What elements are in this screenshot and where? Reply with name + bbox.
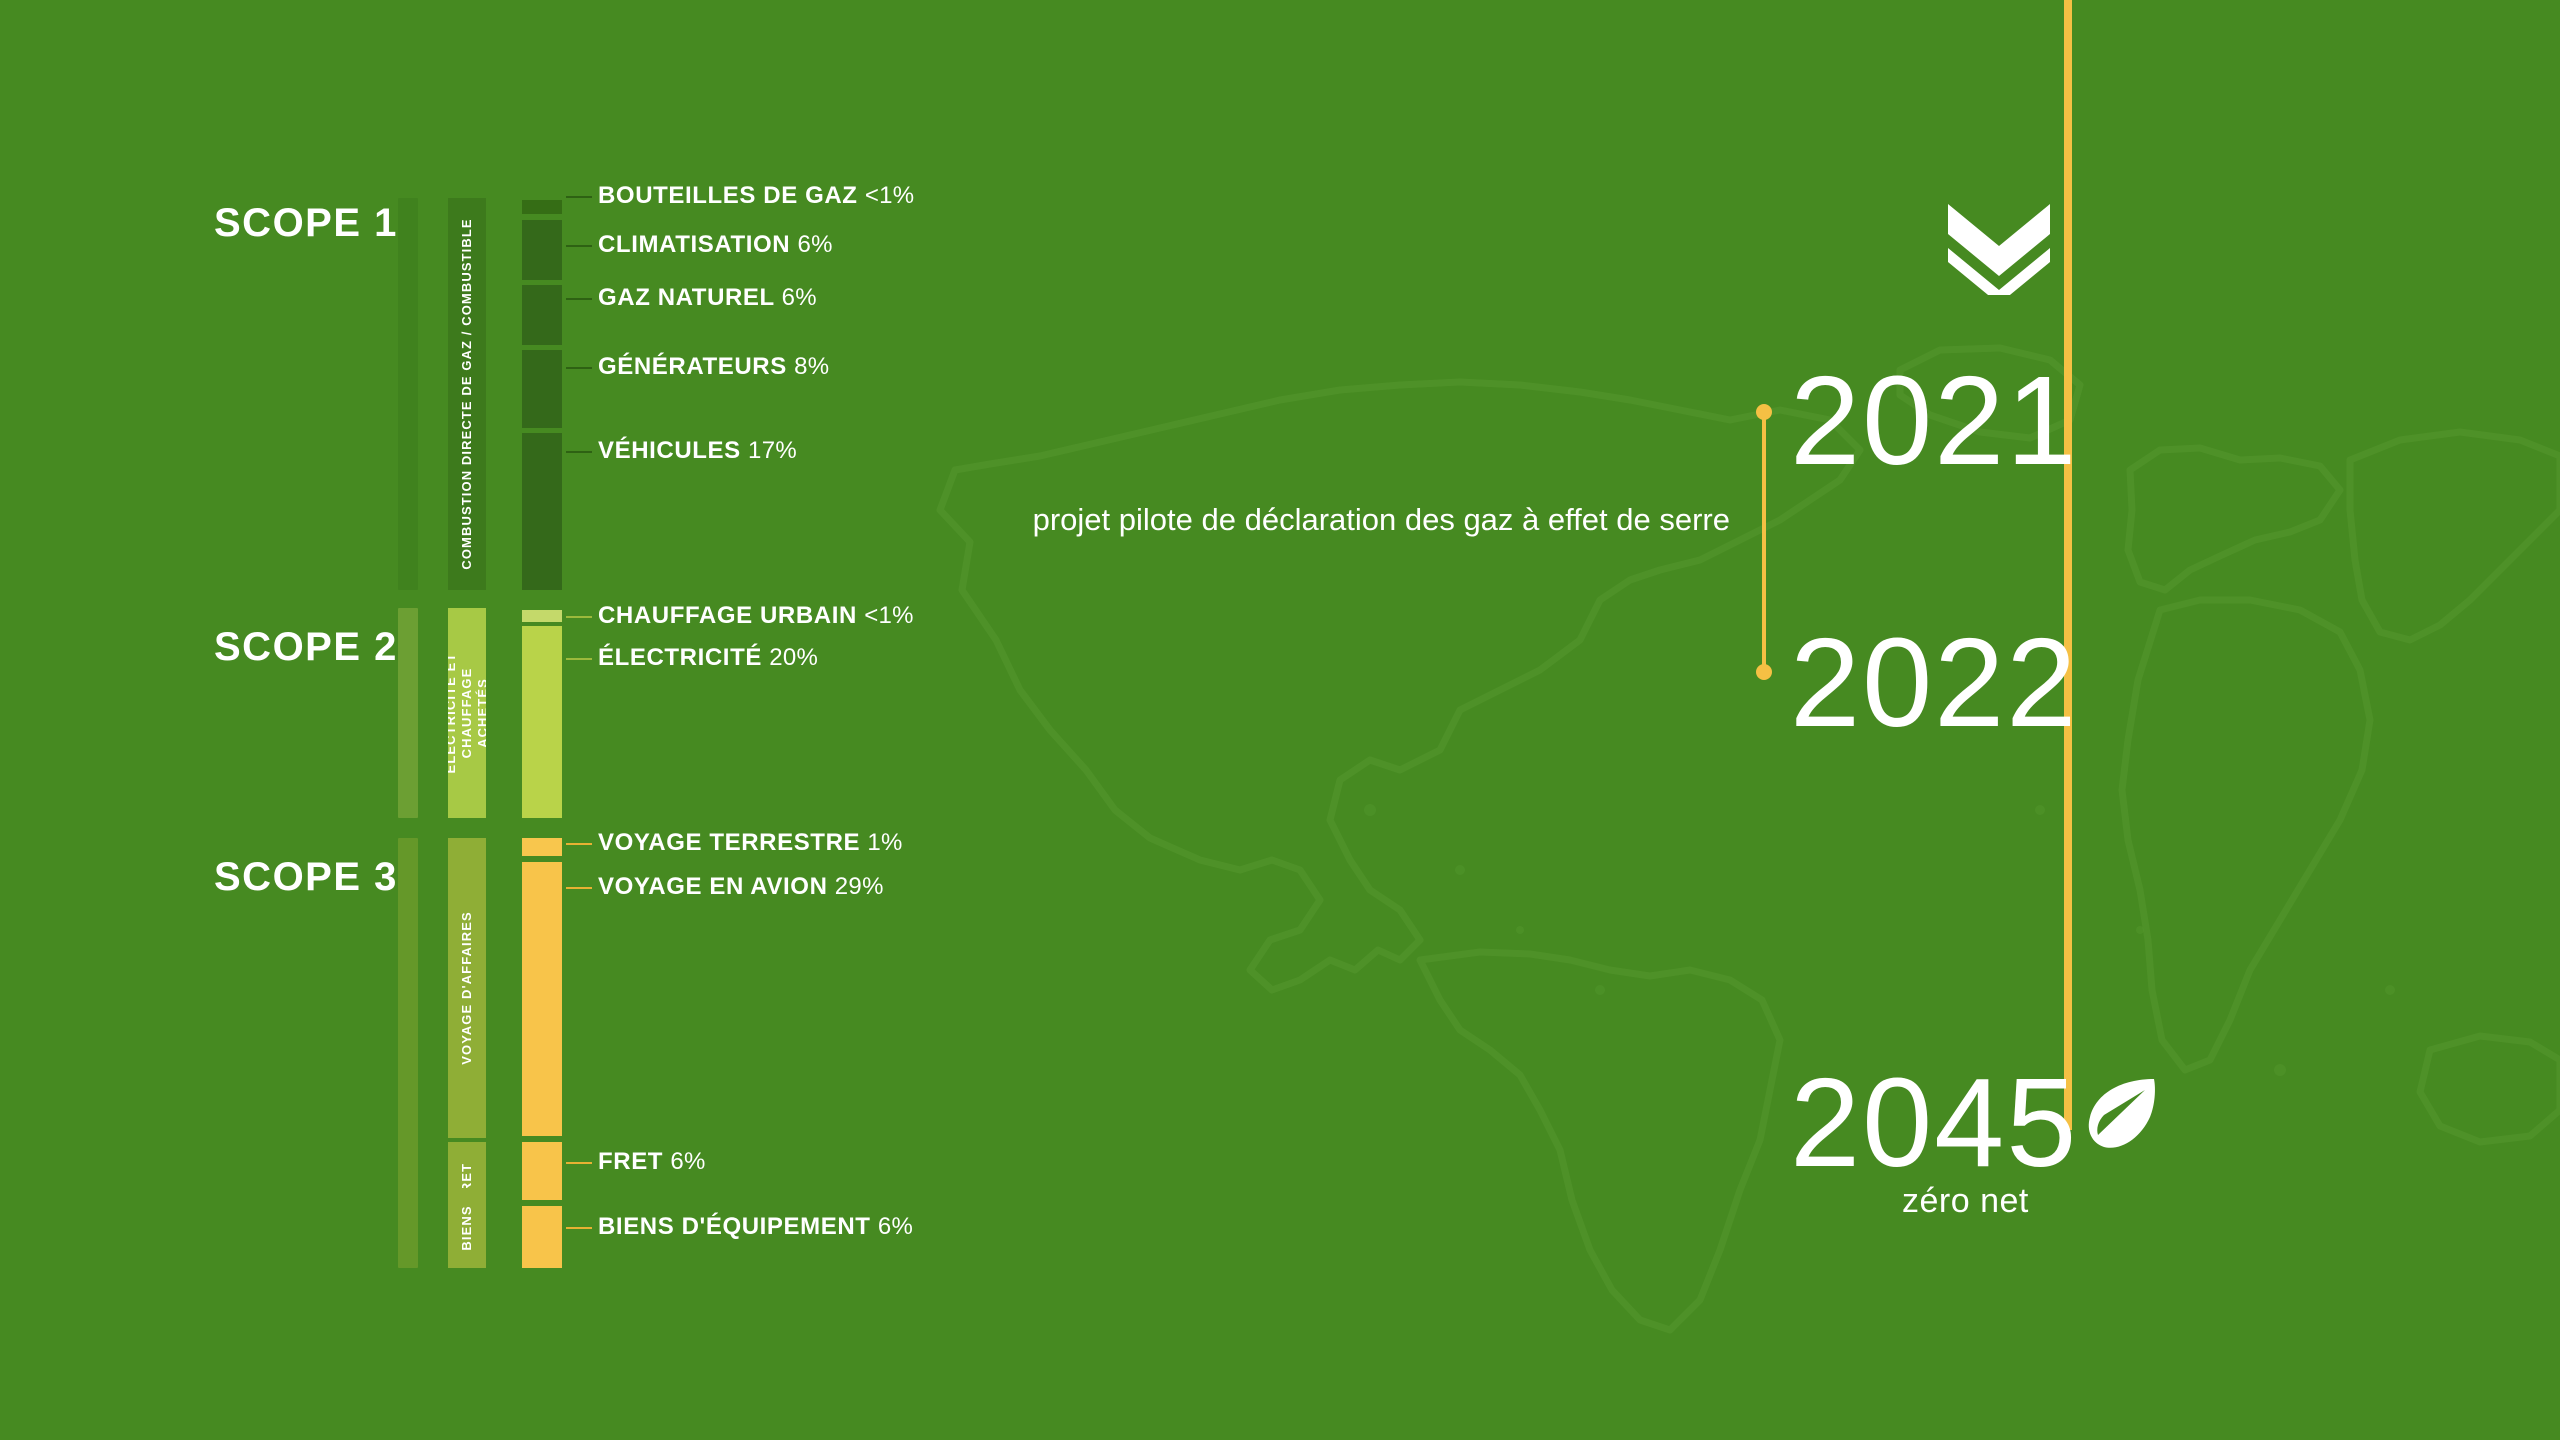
segment-gaz-naturel xyxy=(522,285,562,345)
item-name-voyage-en-avion: VOYAGE EN AVION xyxy=(598,873,828,900)
segment-electricite xyxy=(522,626,562,818)
item-name-climatisation: CLIMATISATION xyxy=(598,231,790,258)
item-label-electricite: ÉLECTRICITÉ 20% xyxy=(598,644,818,672)
segment-generateurs xyxy=(522,350,562,428)
leaf-icon xyxy=(2082,1075,2158,1151)
item-label-chauffage-urbain: CHAUFFAGE URBAIN <1% xyxy=(598,602,914,630)
item-name-vehicules: VÉHICULES xyxy=(598,437,741,464)
item-value-chauffage-urbain: <1% xyxy=(864,602,914,629)
item-value-voyage-en-avion: 29% xyxy=(835,873,884,900)
category-label-biens: BIENS xyxy=(459,1205,475,1250)
leader-chauffage-urbain xyxy=(566,616,592,618)
item-name-fret: FRET xyxy=(598,1148,663,1175)
leader-generateurs xyxy=(566,367,592,369)
item-value-electricite: 20% xyxy=(769,644,818,671)
item-name-voyage-terrestre: VOYAGE TERRESTRE xyxy=(598,829,860,856)
item-label-fret: FRET 6% xyxy=(598,1148,706,1176)
item-label-vehicules: VÉHICULES 17% xyxy=(598,437,797,465)
segment-voyage-terrestre xyxy=(522,838,562,856)
leader-bouteilles-de-gaz xyxy=(566,196,592,198)
category-block-voyage-affaires: VOYAGE D'AFFAIRES xyxy=(448,838,486,1138)
scope-1-strip xyxy=(398,198,418,590)
segment-fret xyxy=(522,1142,562,1200)
item-name-gaz-naturel: GAZ NATUREL xyxy=(598,284,774,311)
world-map-background xyxy=(900,170,2560,1350)
item-value-vehicules: 17% xyxy=(748,437,797,464)
item-name-generateurs: GÉNÉRATEURS xyxy=(598,353,787,380)
item-value-generateurs: 8% xyxy=(794,353,829,380)
item-label-gaz-naturel: GAZ NATUREL 6% xyxy=(598,284,817,312)
item-label-voyage-terrestre: VOYAGE TERRESTRE 1% xyxy=(598,829,903,857)
leader-biens-equipement xyxy=(566,1227,592,1229)
leader-voyage-en-avion xyxy=(566,887,592,889)
timeline-vertical-rule xyxy=(2064,0,2072,1130)
milestone-year-2021: 2021 xyxy=(1790,358,2078,484)
double-chevron-down-icon xyxy=(1944,200,2054,295)
segment-bouteilles-de-gaz xyxy=(522,200,562,214)
category-label-electricite: ÉLECTRICITÉ ET CHAUFFAGE ACHETÉS xyxy=(448,638,486,788)
segment-voyage-en-avion xyxy=(522,862,562,1136)
item-label-bouteilles-de-gaz: BOUTEILLES DE GAZ <1% xyxy=(598,182,914,210)
segment-climatisation xyxy=(522,220,562,280)
segment-vehicules xyxy=(522,433,562,590)
category-block-electricite: ÉLECTRICITÉ ET CHAUFFAGE ACHETÉS xyxy=(448,608,486,818)
item-value-biens-equipement: 6% xyxy=(878,1213,913,1240)
category-label-combustion: COMBUSTION DIRECTE DE GAZ / COMBUSTIBLE xyxy=(459,218,475,569)
milestone-sub-2045: zéro net xyxy=(1902,1182,2029,1221)
category-label-voyage-affaires: VOYAGE D'AFFAIRES xyxy=(459,911,475,1065)
timeline-note: projet pilote de déclaration des gaz à e… xyxy=(1020,500,1730,541)
item-label-generateurs: GÉNÉRATEURS 8% xyxy=(598,353,829,381)
item-label-biens-equipement: BIENS D'ÉQUIPEMENT 6% xyxy=(598,1213,913,1241)
category-block-combustion: COMBUSTION DIRECTE DE GAZ / COMBUSTIBLE xyxy=(448,198,486,590)
item-name-chauffage-urbain: CHAUFFAGE URBAIN xyxy=(598,602,857,629)
item-value-bouteilles-de-gaz: <1% xyxy=(865,182,915,209)
scope-3-title: SCOPE 3 xyxy=(214,855,398,900)
item-value-gaz-naturel: 6% xyxy=(782,284,817,311)
item-name-bouteilles-de-gaz: BOUTEILLES DE GAZ xyxy=(598,182,858,209)
leader-electricite xyxy=(566,658,592,660)
item-value-voyage-terrestre: 1% xyxy=(867,829,902,856)
timeline-connector-dot-bottom xyxy=(1756,664,1772,680)
segment-chauffage-urbain xyxy=(522,610,562,622)
emissions-breakdown-chart: SCOPE 1 COMBUSTION DIRECTE DE GAZ / COMB… xyxy=(0,0,1000,1440)
milestone-year-2045: 2045 xyxy=(1790,1060,2078,1186)
timeline-connector-dot-top xyxy=(1756,404,1772,420)
item-value-fret: 6% xyxy=(670,1148,705,1175)
scope-1-title: SCOPE 1 xyxy=(214,201,398,246)
item-name-biens-equipement: BIENS D'ÉQUIPEMENT xyxy=(598,1213,871,1240)
item-value-climatisation: 6% xyxy=(798,231,833,258)
segment-biens-equipement xyxy=(522,1206,562,1268)
scope-3-strip xyxy=(398,838,418,1268)
leader-climatisation xyxy=(566,245,592,247)
scope-2-title: SCOPE 2 xyxy=(214,625,398,670)
leader-voyage-terrestre xyxy=(566,843,592,845)
leader-fret xyxy=(566,1162,592,1164)
item-name-electricite: ÉLECTRICITÉ xyxy=(598,644,762,671)
leader-gaz-naturel xyxy=(566,298,592,300)
item-label-climatisation: CLIMATISATION 6% xyxy=(598,231,833,259)
timeline-connector-line xyxy=(1762,412,1766,672)
scope-2-strip xyxy=(398,608,418,818)
leader-vehicules xyxy=(566,451,592,453)
item-label-voyage-en-avion: VOYAGE EN AVION 29% xyxy=(598,873,884,901)
milestone-year-2022: 2022 xyxy=(1790,620,2078,746)
category-block-biens: BIENS xyxy=(448,1188,486,1268)
